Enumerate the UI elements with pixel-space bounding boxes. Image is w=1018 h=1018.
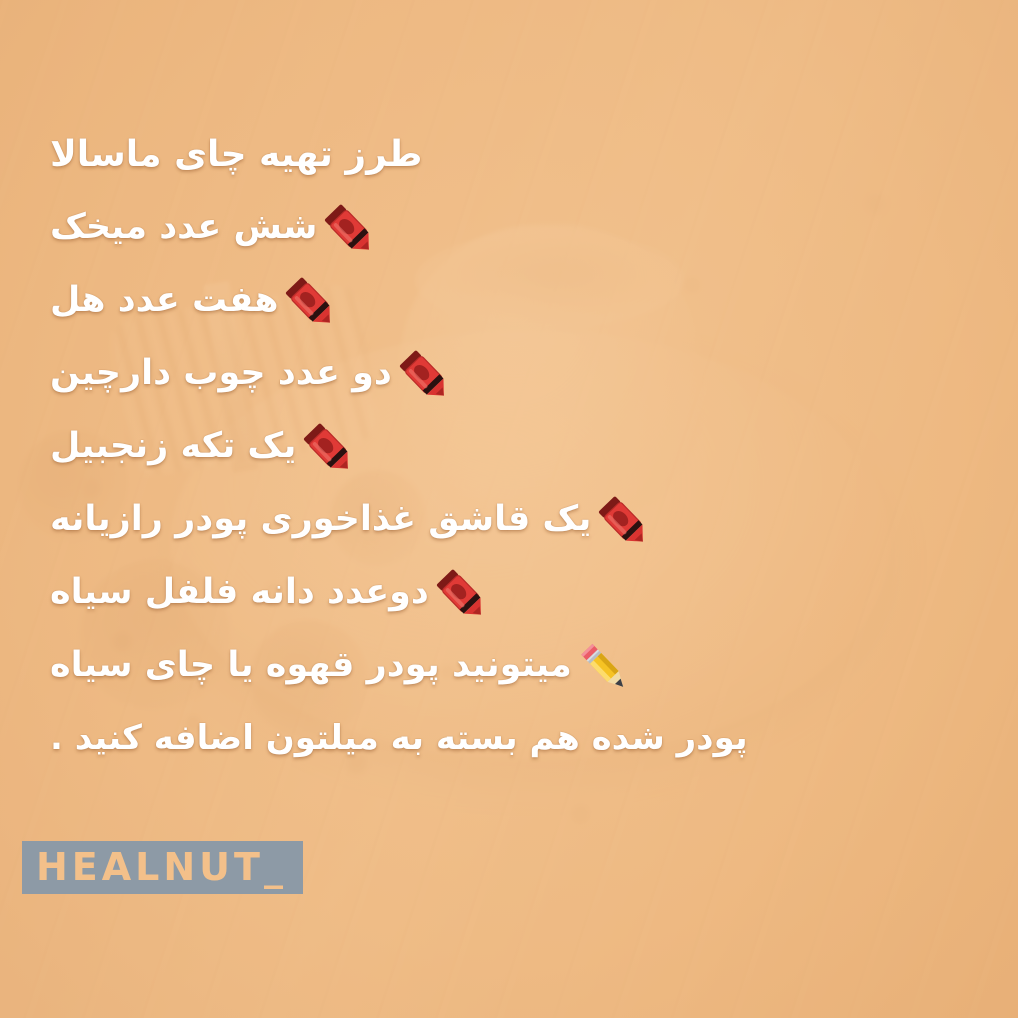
pencil-icon <box>572 635 634 697</box>
ingredient-line: یک تکه زنجبیل <box>50 410 352 483</box>
recipe-text-block: طرز تهیه چای ماسالا <box>50 118 950 775</box>
crayon-icon <box>392 343 454 405</box>
crayon-icon <box>278 270 340 332</box>
ingredient-line: دوعدد دانه فلفل سیاه <box>50 556 485 629</box>
ingredient-label: دوعدد دانه فلفل سیاه <box>50 573 429 612</box>
recipe-title-line: طرز تهیه چای ماسالا <box>50 118 478 191</box>
watermark-label: HEALNUT_ <box>36 848 287 886</box>
note-label: میتونید پودر قهوه یا چای سیاه <box>50 646 572 685</box>
ingredient-label: شش عدد میخک <box>50 208 317 247</box>
ingredient-label: یک قاشق غذاخوری پودر رازیانه <box>50 500 591 539</box>
crayon-icon <box>429 562 491 624</box>
recipe-card: طرز تهیه چای ماسالا <box>0 0 1018 1018</box>
crayon-icon <box>296 416 358 478</box>
ingredient-line: شش عدد میخک <box>50 191 373 264</box>
page-title: طرز تهیه چای ماسالا <box>50 135 422 175</box>
ingredient-label: دو عدد چوب دارچین <box>50 354 392 393</box>
watermark-badge: HEALNUT_ <box>22 841 303 894</box>
crayon-icon <box>317 197 379 259</box>
note-line-continued: پودر شده هم بسته به میلتون اضافه کنید . <box>50 702 804 775</box>
note-label: پودر شده هم بسته به میلتون اضافه کنید . <box>50 720 748 757</box>
ingredient-line: یک قاشق غذاخوری پودر رازیانه <box>50 483 647 556</box>
ingredient-label: یک تکه زنجبیل <box>50 427 296 466</box>
ingredient-line: هفت عدد هل <box>50 264 334 337</box>
ingredient-line: دو عدد چوب دارچین <box>50 337 448 410</box>
crayon-icon <box>591 489 653 551</box>
note-line: میتونید پودر قهوه یا چای سیاه <box>50 629 628 702</box>
ingredient-label: هفت عدد هل <box>50 281 278 320</box>
